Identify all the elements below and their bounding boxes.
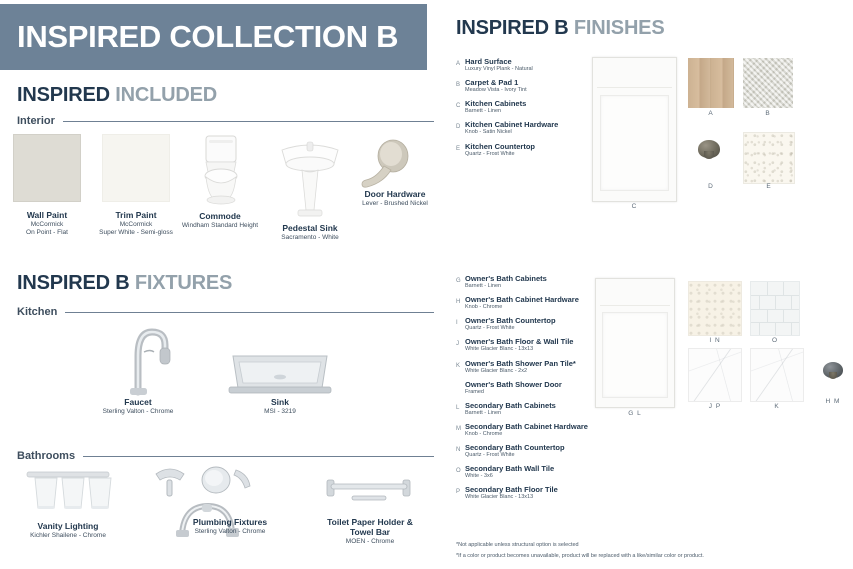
product-sub1: MOEN - Chrome — [305, 538, 435, 546]
swatch-label-hm: H M — [815, 398, 851, 405]
legend-item: M Secondary Bath Cabinet Hardware Knob -… — [456, 422, 626, 438]
legend-sub: Knob - Chrome — [465, 431, 626, 438]
legend-letter: O — [456, 464, 465, 474]
legend-letter: G — [456, 274, 465, 284]
swatch-bath-knob — [823, 362, 843, 378]
product-sub1: Lever - Brushed Nickel — [350, 200, 440, 208]
swatch-hard-surface — [688, 58, 734, 108]
cabinet-drawer-front — [600, 285, 670, 305]
cabinet-drawer-front — [597, 65, 672, 88]
legend-letter: P — [456, 485, 465, 495]
product-sub1: Windham Standard Height — [172, 222, 268, 230]
swatch-label-e: E — [743, 183, 795, 190]
toilet-icon — [172, 132, 268, 208]
section-heading-fixtures: INSPIRED B FIXTURES — [17, 272, 232, 295]
product-door-hardware: Door Hardware Lever - Brushed Nickel — [350, 136, 440, 198]
swatch-label-gl: G L — [595, 410, 675, 417]
subheading-kitchen: Kitchen — [17, 306, 434, 318]
product-name: Vanity Lighting — [13, 522, 123, 532]
product-name-line2: Towel Bar — [305, 528, 435, 538]
legend-letter: J — [456, 337, 465, 347]
legend-sub: Quartz - Frost White — [465, 452, 626, 459]
vanity-light-icon — [13, 466, 123, 522]
legend-title: Secondary Bath Countertop — [465, 443, 626, 452]
swatch-bath-cabinet — [595, 278, 675, 408]
subheading-bathrooms-label: Bathrooms — [17, 450, 75, 462]
pedestal-sink-icon — [262, 132, 358, 224]
footnote-1: *Not applicable unless structural option… — [456, 540, 579, 550]
product-sub1: Sacramento - White — [262, 234, 358, 242]
left-column: INSPIRED COLLECTION B INSPIRED INCLUDED … — [0, 0, 440, 569]
legend-letter: L — [456, 401, 465, 411]
product-sub1: Sterling Valton - Chrome — [88, 408, 188, 416]
page-title: INSPIRED COLLECTION B — [0, 19, 398, 55]
product-name: Door Hardware — [350, 190, 440, 200]
subheading-interior: Interior — [17, 115, 434, 127]
heading-bold-finishes: INSPIRED B — [456, 17, 568, 39]
swatch-label-d: D — [688, 183, 734, 190]
product-name: Plumbing Fixtures — [180, 518, 280, 528]
cabinet-door-panel — [600, 95, 670, 191]
swatch-kitchen-countertop — [743, 132, 795, 184]
legend-item: O Secondary Bath Wall Tile White - 3x6 — [456, 464, 626, 480]
legend-item: N Secondary Bath Countertop Quartz - Fro… — [456, 443, 626, 459]
legend-title: Secondary Bath Wall Tile — [465, 464, 626, 473]
product-sub1: McCormick — [8, 221, 86, 229]
product-sub2: Super White - Semi-gloss — [92, 229, 180, 237]
legend-sub: White Glacier Blanc - 13x13 — [465, 494, 626, 501]
heading-bold-fixtures: INSPIRED B — [17, 272, 129, 294]
swatch-shower-pan-tile — [750, 348, 804, 402]
towel-bar-icon — [305, 466, 435, 518]
paint-swatch — [13, 134, 81, 202]
swatch-label-in: I N — [688, 337, 742, 344]
product-name: Faucet — [88, 398, 188, 408]
product-sink: Sink MSI - 3219 — [225, 350, 335, 416]
product-wall-paint: Wall Paint McCormick On Point - Flat — [8, 134, 86, 237]
swatch-secondary-wall-tile — [750, 281, 800, 336]
legend-letter: M — [456, 422, 465, 432]
product-name: Wall Paint — [8, 211, 86, 221]
product-vanity-lighting: Vanity Lighting Kichler Shailene - Chrom… — [13, 466, 123, 540]
swatch-kitchen-knob — [698, 140, 720, 158]
divider-rule — [65, 312, 434, 313]
legend-letter: D — [456, 120, 465, 130]
kitchen-faucet-icon — [88, 318, 188, 398]
heading-light-included: INCLUDED — [115, 84, 217, 106]
swatch-kitchen-cabinet — [592, 57, 677, 202]
legend-letter: N — [456, 443, 465, 453]
product-sub1: McCormick — [92, 221, 180, 229]
cabinet-door-panel — [602, 312, 668, 398]
legend-sub: White - 3x6 — [465, 473, 626, 480]
paint-swatch — [102, 134, 170, 202]
swatch-carpet — [743, 58, 793, 108]
legend-letter: B — [456, 78, 465, 88]
section-heading-included: INSPIRED INCLUDED — [17, 84, 217, 107]
heading-light-fixtures: FIXTURES — [135, 272, 232, 294]
heading-bold-included: INSPIRED — [17, 84, 110, 106]
section-heading-finishes: INSPIRED B FINISHES — [456, 17, 664, 40]
product-plumbing-fixtures: Plumbing Fixtures Sterling Valton - Chro… — [140, 460, 280, 540]
right-column: INSPIRED B FINISHES A Hard Surface Luxur… — [445, 0, 853, 569]
legend-letter: H — [456, 295, 465, 305]
product-pedestal-sink: Pedestal Sink Sacramento - White — [262, 132, 358, 242]
legend-title: Secondary Bath Cabinet Hardware — [465, 422, 626, 431]
product-name: Pedestal Sink — [262, 224, 358, 234]
divider-rule — [63, 121, 434, 122]
product-name: Sink — [225, 398, 335, 408]
legend-title: Secondary Bath Floor Tile — [465, 485, 626, 494]
swatch-bath-countertop — [688, 281, 742, 336]
swatch-label-c: C — [592, 203, 677, 210]
legend-letter: I — [456, 316, 465, 326]
product-trim-paint: Trim Paint McCormick Super White - Semi-… — [92, 134, 180, 237]
legend-item: P Secondary Bath Floor Tile White Glacie… — [456, 485, 626, 501]
swatch-label-a: A — [688, 110, 734, 117]
legend-letter: A — [456, 57, 465, 67]
kitchen-sink-icon — [225, 350, 335, 398]
swatch-label-k: K — [750, 403, 804, 410]
legend-letter: E — [456, 142, 465, 152]
product-sub1: MSI - 3219 — [225, 408, 335, 416]
legend-letter: C — [456, 99, 465, 109]
product-sub1: Kichler Shailene - Chrome — [13, 532, 123, 540]
heading-light-finishes: FINISHES — [574, 17, 665, 39]
product-sub1: Sterling Valton - Chrome — [180, 528, 280, 536]
divider-rule — [83, 456, 434, 457]
inspired-collection-b-page: INSPIRED COLLECTION B INSPIRED INCLUDED … — [0, 0, 853, 569]
legend-letter: K — [456, 359, 465, 369]
subheading-kitchen-label: Kitchen — [17, 306, 57, 318]
product-faucet: Faucet Sterling Valton - Chrome — [88, 318, 188, 416]
swatch-label-b: B — [743, 110, 793, 117]
product-name: Trim Paint — [92, 211, 180, 221]
subheading-interior-label: Interior — [17, 115, 55, 127]
swatch-label-jp: J P — [688, 403, 742, 410]
product-sub2: On Point - Flat — [8, 229, 86, 237]
product-name: Commode — [172, 212, 268, 222]
product-commode: Commode Windham Standard Height — [172, 132, 268, 230]
swatch-bath-floor-tile — [688, 348, 742, 402]
legend-letter — [456, 380, 465, 384]
footnote-2: *If a color or product becomes unavailab… — [456, 551, 704, 561]
swatch-label-o: O — [750, 337, 800, 344]
title-bar: INSPIRED COLLECTION B — [0, 4, 427, 70]
product-towel-bar: Toilet Paper Holder & Towel Bar MOEN - C… — [305, 466, 435, 546]
